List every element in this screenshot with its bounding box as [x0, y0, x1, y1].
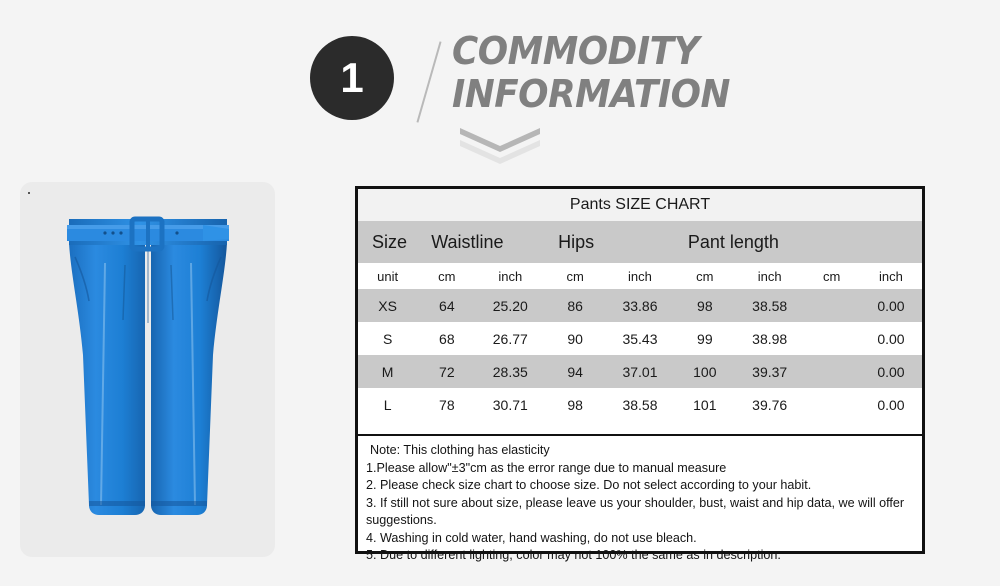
- cell-waist-inch: 28.35: [476, 355, 544, 388]
- cell-extra-inch: 0.00: [860, 355, 922, 388]
- cell-extra-cm: [804, 388, 860, 421]
- cell-waist-inch: 26.77: [476, 322, 544, 355]
- chevron-down-icon: [460, 126, 550, 166]
- cell-length-inch: 38.98: [736, 322, 804, 355]
- cell-hips-inch: 33.86: [606, 289, 674, 322]
- slash-divider-icon: [416, 41, 441, 122]
- cell-waist-cm: 68: [417, 322, 476, 355]
- unit-waist-cm: cm: [417, 263, 476, 289]
- cell-waist-inch: 30.71: [476, 388, 544, 421]
- product-image-card[interactable]: [20, 182, 275, 557]
- section-header: 1 COMMODITY INFORMATION: [300, 22, 770, 182]
- cell-size: M: [358, 355, 417, 388]
- blue-pants-illustration: [53, 205, 243, 535]
- cell-waist-cm: 64: [417, 289, 476, 322]
- cell-extra-inch: 0.00: [860, 388, 922, 421]
- cell-hips-cm: 90: [544, 322, 606, 355]
- cell-extra-inch: 0.00: [860, 322, 922, 355]
- cell-length-inch: 39.37: [736, 355, 804, 388]
- unit-label: unit: [358, 263, 417, 289]
- cell-length-cm: 98: [674, 289, 736, 322]
- note-line: 4. Washing in cold water, hand washing, …: [366, 530, 914, 548]
- section-title-line-2: INFORMATION: [452, 73, 753, 116]
- step-number-label: 1: [340, 57, 363, 99]
- cell-extra-inch: 0.00: [860, 289, 922, 322]
- cell-hips-inch: 37.01: [606, 355, 674, 388]
- cell-size: XS: [358, 289, 417, 322]
- table-title-row: Pants SIZE CHART: [358, 189, 922, 221]
- cell-waist-inch: 25.20: [476, 289, 544, 322]
- cell-length-cm: 101: [674, 388, 736, 421]
- table-title: Pants SIZE CHART: [358, 189, 922, 221]
- table-row: S 68 26.77 90 35.43 99 38.98 0.00: [358, 322, 922, 355]
- product-photo: [20, 182, 275, 557]
- unit-hips-inch: inch: [606, 263, 674, 289]
- table-row: XS 64 25.20 86 33.86 98 38.58 0.00: [358, 289, 922, 322]
- cell-hips-inch: 38.58: [606, 388, 674, 421]
- cell-hips-cm: 94: [544, 355, 606, 388]
- note-line: 5. Due to different lighting, color may …: [366, 547, 914, 565]
- unit-hips-cm: cm: [544, 263, 606, 289]
- cell-length-inch: 38.58: [736, 289, 804, 322]
- table-row: L 78 30.71 98 38.58 101 39.76 0.00: [358, 388, 922, 421]
- unit-length-cm: cm: [674, 263, 736, 289]
- step-number-badge: 1: [310, 36, 394, 120]
- cell-extra-cm: [804, 322, 860, 355]
- cell-extra-cm: [804, 289, 860, 322]
- section-title-line-1: COMMODITY: [452, 30, 753, 73]
- group-header-waistline: Waistline: [417, 221, 544, 263]
- note-line: 1.Please allow"±3"cm as the error range …: [366, 460, 914, 478]
- table-unit-row: unit cm inch cm inch cm inch cm inch: [358, 263, 922, 289]
- cell-hips-cm: 86: [544, 289, 606, 322]
- unit-extra-inch: inch: [860, 263, 922, 289]
- cell-waist-cm: 72: [417, 355, 476, 388]
- cell-hips-cm: 98: [544, 388, 606, 421]
- cell-hips-inch: 35.43: [606, 322, 674, 355]
- group-header-extra: [804, 221, 922, 263]
- table-group-header-row: Size Waistline Hips Pant length: [358, 221, 922, 263]
- product-detail-page: 1 COMMODITY INFORMATION: [0, 0, 1000, 586]
- unit-extra-cm: cm: [804, 263, 860, 289]
- unit-waist-inch: inch: [476, 263, 544, 289]
- cell-size: S: [358, 322, 417, 355]
- group-header-size: Size: [358, 221, 417, 263]
- note-line: Note: This clothing has elasticity: [366, 442, 914, 460]
- size-chart-table: Pants SIZE CHART Size Waistline Hips Pan…: [355, 186, 925, 554]
- cell-extra-cm: [804, 355, 860, 388]
- size-chart-notes: Note: This clothing has elasticity 1.Ple…: [358, 434, 922, 551]
- cell-length-cm: 100: [674, 355, 736, 388]
- group-header-pant-length: Pant length: [674, 221, 804, 263]
- unit-length-inch: inch: [736, 263, 804, 289]
- group-header-hips: Hips: [544, 221, 674, 263]
- section-title: COMMODITY INFORMATION: [452, 30, 772, 116]
- cell-waist-cm: 78: [417, 388, 476, 421]
- note-line: 2. Please check size chart to choose siz…: [366, 477, 914, 495]
- table-row: M 72 28.35 94 37.01 100 39.37 0.00: [358, 355, 922, 388]
- cell-length-cm: 99: [674, 322, 736, 355]
- cell-length-inch: 39.76: [736, 388, 804, 421]
- note-line: 3. If still not sure about size, please …: [366, 495, 914, 530]
- cell-size: L: [358, 388, 417, 421]
